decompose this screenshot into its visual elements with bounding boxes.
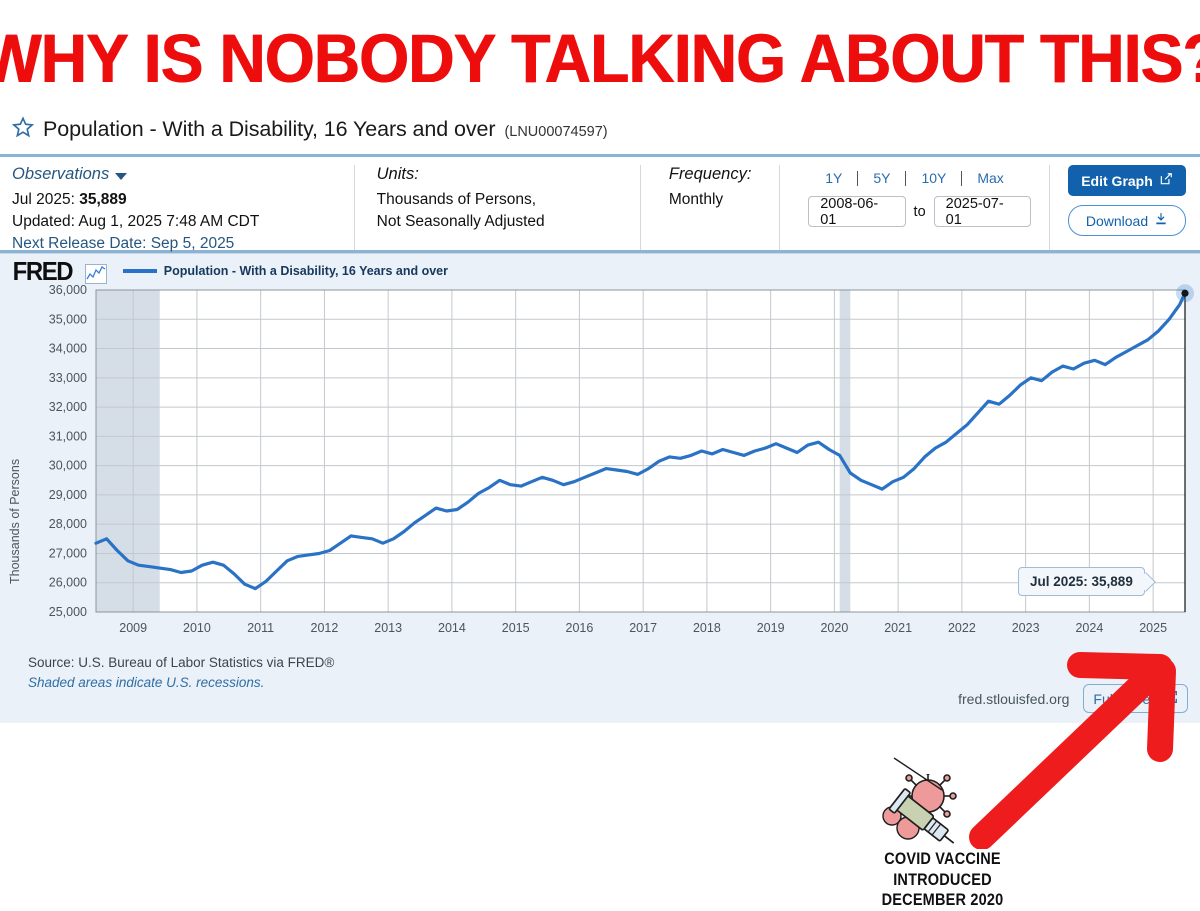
units-value-line2: Not Seasonally Adjusted xyxy=(377,211,622,233)
y-axis-tick: 34,000 xyxy=(49,342,87,356)
red-up-arrow-icon xyxy=(960,649,1180,854)
x-axis-tick: 2019 xyxy=(757,621,785,635)
y-axis-tick: 32,000 xyxy=(49,400,87,414)
covid-annotation-line2: DECEMBER 2020 xyxy=(866,890,1020,911)
x-axis-tick: 2020 xyxy=(820,621,848,635)
page-title: Population - With a Disability, 16 Years… xyxy=(43,117,495,142)
x-axis-tick: 2022 xyxy=(948,621,976,635)
frequency-column: Frequency: Monthly xyxy=(641,165,780,250)
x-axis-tick: 2010 xyxy=(183,621,211,635)
y-axis-tick: 30,000 xyxy=(49,459,87,473)
chart-legend: Population - With a Disability, 16 Years… xyxy=(123,264,448,278)
edit-graph-label: Edit Graph xyxy=(1081,173,1153,189)
series-id: (LNU00074597) xyxy=(504,124,607,140)
y-axis-tick: 29,000 xyxy=(49,488,87,502)
observations-label: Observations xyxy=(12,165,109,184)
legend-swatch xyxy=(123,269,157,273)
units-column: Units: Thousands of Persons, Not Seasona… xyxy=(355,165,641,250)
y-axis-tick: 36,000 xyxy=(49,283,87,297)
latest-observation-value: 35,889 xyxy=(79,191,126,208)
observations-column: Observations Jul 2025: 35,889 Updated: A… xyxy=(12,165,355,250)
quick-range-selector: 1Y 5Y 10Y Max xyxy=(810,170,1031,186)
date-range-inputs: 2008-06-01 to 2025-07-01 xyxy=(808,196,1031,227)
x-axis-tick: 2014 xyxy=(438,621,466,635)
range-10y-button[interactable]: 10Y xyxy=(906,170,961,186)
x-axis-tick: 2009 xyxy=(119,621,147,635)
headline-banner: WHY IS NOBODY TALKING ABOUT THIS? xyxy=(0,0,1200,110)
date-range-to-label: to xyxy=(914,204,926,220)
download-icon xyxy=(1154,212,1168,229)
download-button[interactable]: Download xyxy=(1068,205,1186,236)
latest-point-marker xyxy=(1181,290,1188,297)
covid-annotation: COVID VACCINE INTRODUCED DECEMBER 2020 xyxy=(855,849,1030,911)
x-axis-tick: 2023 xyxy=(1012,621,1040,635)
x-axis-tick: 2012 xyxy=(311,621,339,635)
fred-chart-panel: FRED Population - With a Disability, 16 … xyxy=(0,253,1200,723)
latest-observation-date: Jul 2025: xyxy=(12,191,79,208)
actions-column: Edit Graph Download xyxy=(1050,165,1190,250)
x-axis-tick: 2021 xyxy=(884,621,912,635)
chevron-down-icon xyxy=(115,173,127,180)
legend-label: Population - With a Disability, 16 Years… xyxy=(164,264,448,278)
updated-timestamp: Updated: Aug 1, 2025 7:48 AM CDT xyxy=(12,211,336,233)
x-axis-tick: 2013 xyxy=(374,621,402,635)
latest-observation: Jul 2025: 35,889 xyxy=(12,189,336,211)
series-title-row: Population - With a Disability, 16 Years… xyxy=(0,110,1200,157)
x-axis-tick: 2025 xyxy=(1139,621,1167,635)
observations-dropdown[interactable]: Observations xyxy=(12,165,127,184)
date-range-column: 1Y 5Y 10Y Max 2008-06-01 to 2025-07-01 xyxy=(780,165,1050,250)
covid-annotation-line1: COVID VACCINE INTRODUCED xyxy=(866,849,1020,890)
units-value-line1: Thousands of Persons, xyxy=(377,189,622,211)
series-meta-bar: Observations Jul 2025: 35,889 Updated: A… xyxy=(0,157,1200,253)
y-axis-tick: 25,000 xyxy=(49,605,87,619)
frequency-label: Frequency: xyxy=(669,165,752,184)
y-axis-tick: 28,000 xyxy=(49,517,87,531)
chart-header: FRED Population - With a Disability, 16 … xyxy=(0,254,1200,282)
x-axis-tick: 2015 xyxy=(502,621,530,635)
download-label: Download xyxy=(1086,213,1148,229)
start-date-input[interactable]: 2008-06-01 xyxy=(808,196,905,227)
end-date-input[interactable]: 2025-07-01 xyxy=(934,196,1031,227)
pencil-square-icon xyxy=(1159,172,1173,189)
x-axis-tick: 2018 xyxy=(693,621,721,635)
units-label: Units: xyxy=(377,165,419,184)
y-axis-tick: 33,000 xyxy=(49,371,87,385)
y-axis-tick: 31,000 xyxy=(49,429,87,443)
annotation-leader-line xyxy=(886,754,946,794)
y-axis-tick: 27,000 xyxy=(49,546,87,560)
headline-text: WHY IS NOBODY TALKING ABOUT THIS? xyxy=(0,24,1200,93)
sparkline-icon xyxy=(85,264,107,284)
chart-tooltip: Jul 2025: 35,889 xyxy=(1018,567,1145,596)
x-axis-tick: 2016 xyxy=(566,621,594,635)
star-icon[interactable] xyxy=(12,116,34,143)
range-max-button[interactable]: Max xyxy=(962,170,1018,186)
y-axis-tick: 26,000 xyxy=(49,576,87,590)
edit-graph-button[interactable]: Edit Graph xyxy=(1068,165,1186,196)
x-axis-tick: 2011 xyxy=(247,621,274,635)
next-release-date[interactable]: Next Release Date: Sep 5, 2025 xyxy=(12,233,336,255)
x-axis-tick: 2017 xyxy=(629,621,657,635)
range-5y-button[interactable]: 5Y xyxy=(858,170,905,186)
frequency-value: Monthly xyxy=(669,189,761,211)
y-axis-tick: 35,000 xyxy=(49,312,87,326)
range-1y-button[interactable]: 1Y xyxy=(810,170,857,186)
x-axis-tick: 2024 xyxy=(1075,621,1103,635)
